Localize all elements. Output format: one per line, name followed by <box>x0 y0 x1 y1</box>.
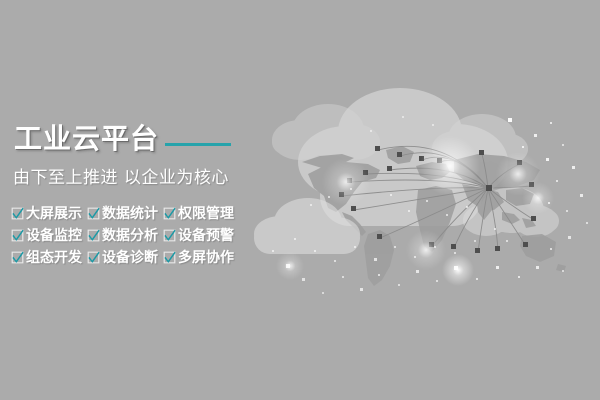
check-mark-icon <box>163 251 176 264</box>
feature-item: 设备预警 <box>163 225 237 247</box>
industrial-cloud-banner: 工业云平台 由下至上推进 以企业为核心 大屏展示 <box>0 0 600 400</box>
page-title: 工业云平台 <box>14 124 159 154</box>
cloud-world-network-illustration <box>250 70 600 320</box>
title-row: 工业云平台 <box>14 124 231 154</box>
title-underline-rule <box>165 143 231 146</box>
feature-label: 权限管理 <box>178 206 234 222</box>
feature-item: 设备监控 <box>11 225 85 247</box>
feature-label: 大屏展示 <box>26 206 82 222</box>
feature-item: 权限管理 <box>163 203 237 225</box>
check-mark-icon <box>163 207 176 220</box>
page-subtitle: 由下至上推进 以企业为核心 <box>13 167 229 189</box>
check-mark-icon <box>163 229 176 242</box>
feature-label: 多屏协作 <box>178 250 234 266</box>
check-mark-icon <box>87 229 100 242</box>
feature-item: 多屏协作 <box>163 247 237 269</box>
feature-item: 设备诊断 <box>87 247 161 269</box>
feature-label: 数据分析 <box>102 228 158 244</box>
text-panel: 工业云平台 由下至上推进 以企业为核心 大屏展示 <box>0 0 260 400</box>
feature-label: 组态开发 <box>26 250 82 266</box>
feature-item: 大屏展示 <box>11 203 85 225</box>
feature-item: 数据统计 <box>87 203 161 225</box>
check-mark-icon <box>11 207 24 220</box>
feature-item: 数据分析 <box>87 225 161 247</box>
feature-label: 数据统计 <box>102 206 158 222</box>
check-mark-icon <box>87 207 100 220</box>
feature-label: 设备监控 <box>26 228 82 244</box>
check-mark-icon <box>87 251 100 264</box>
check-mark-icon <box>11 251 24 264</box>
feature-list: 大屏展示 数据统计 权限管理 <box>11 203 237 269</box>
feature-item: 组态开发 <box>11 247 85 269</box>
check-mark-icon <box>11 229 24 242</box>
feature-label: 设备预警 <box>178 228 234 244</box>
feature-label: 设备诊断 <box>102 250 158 266</box>
